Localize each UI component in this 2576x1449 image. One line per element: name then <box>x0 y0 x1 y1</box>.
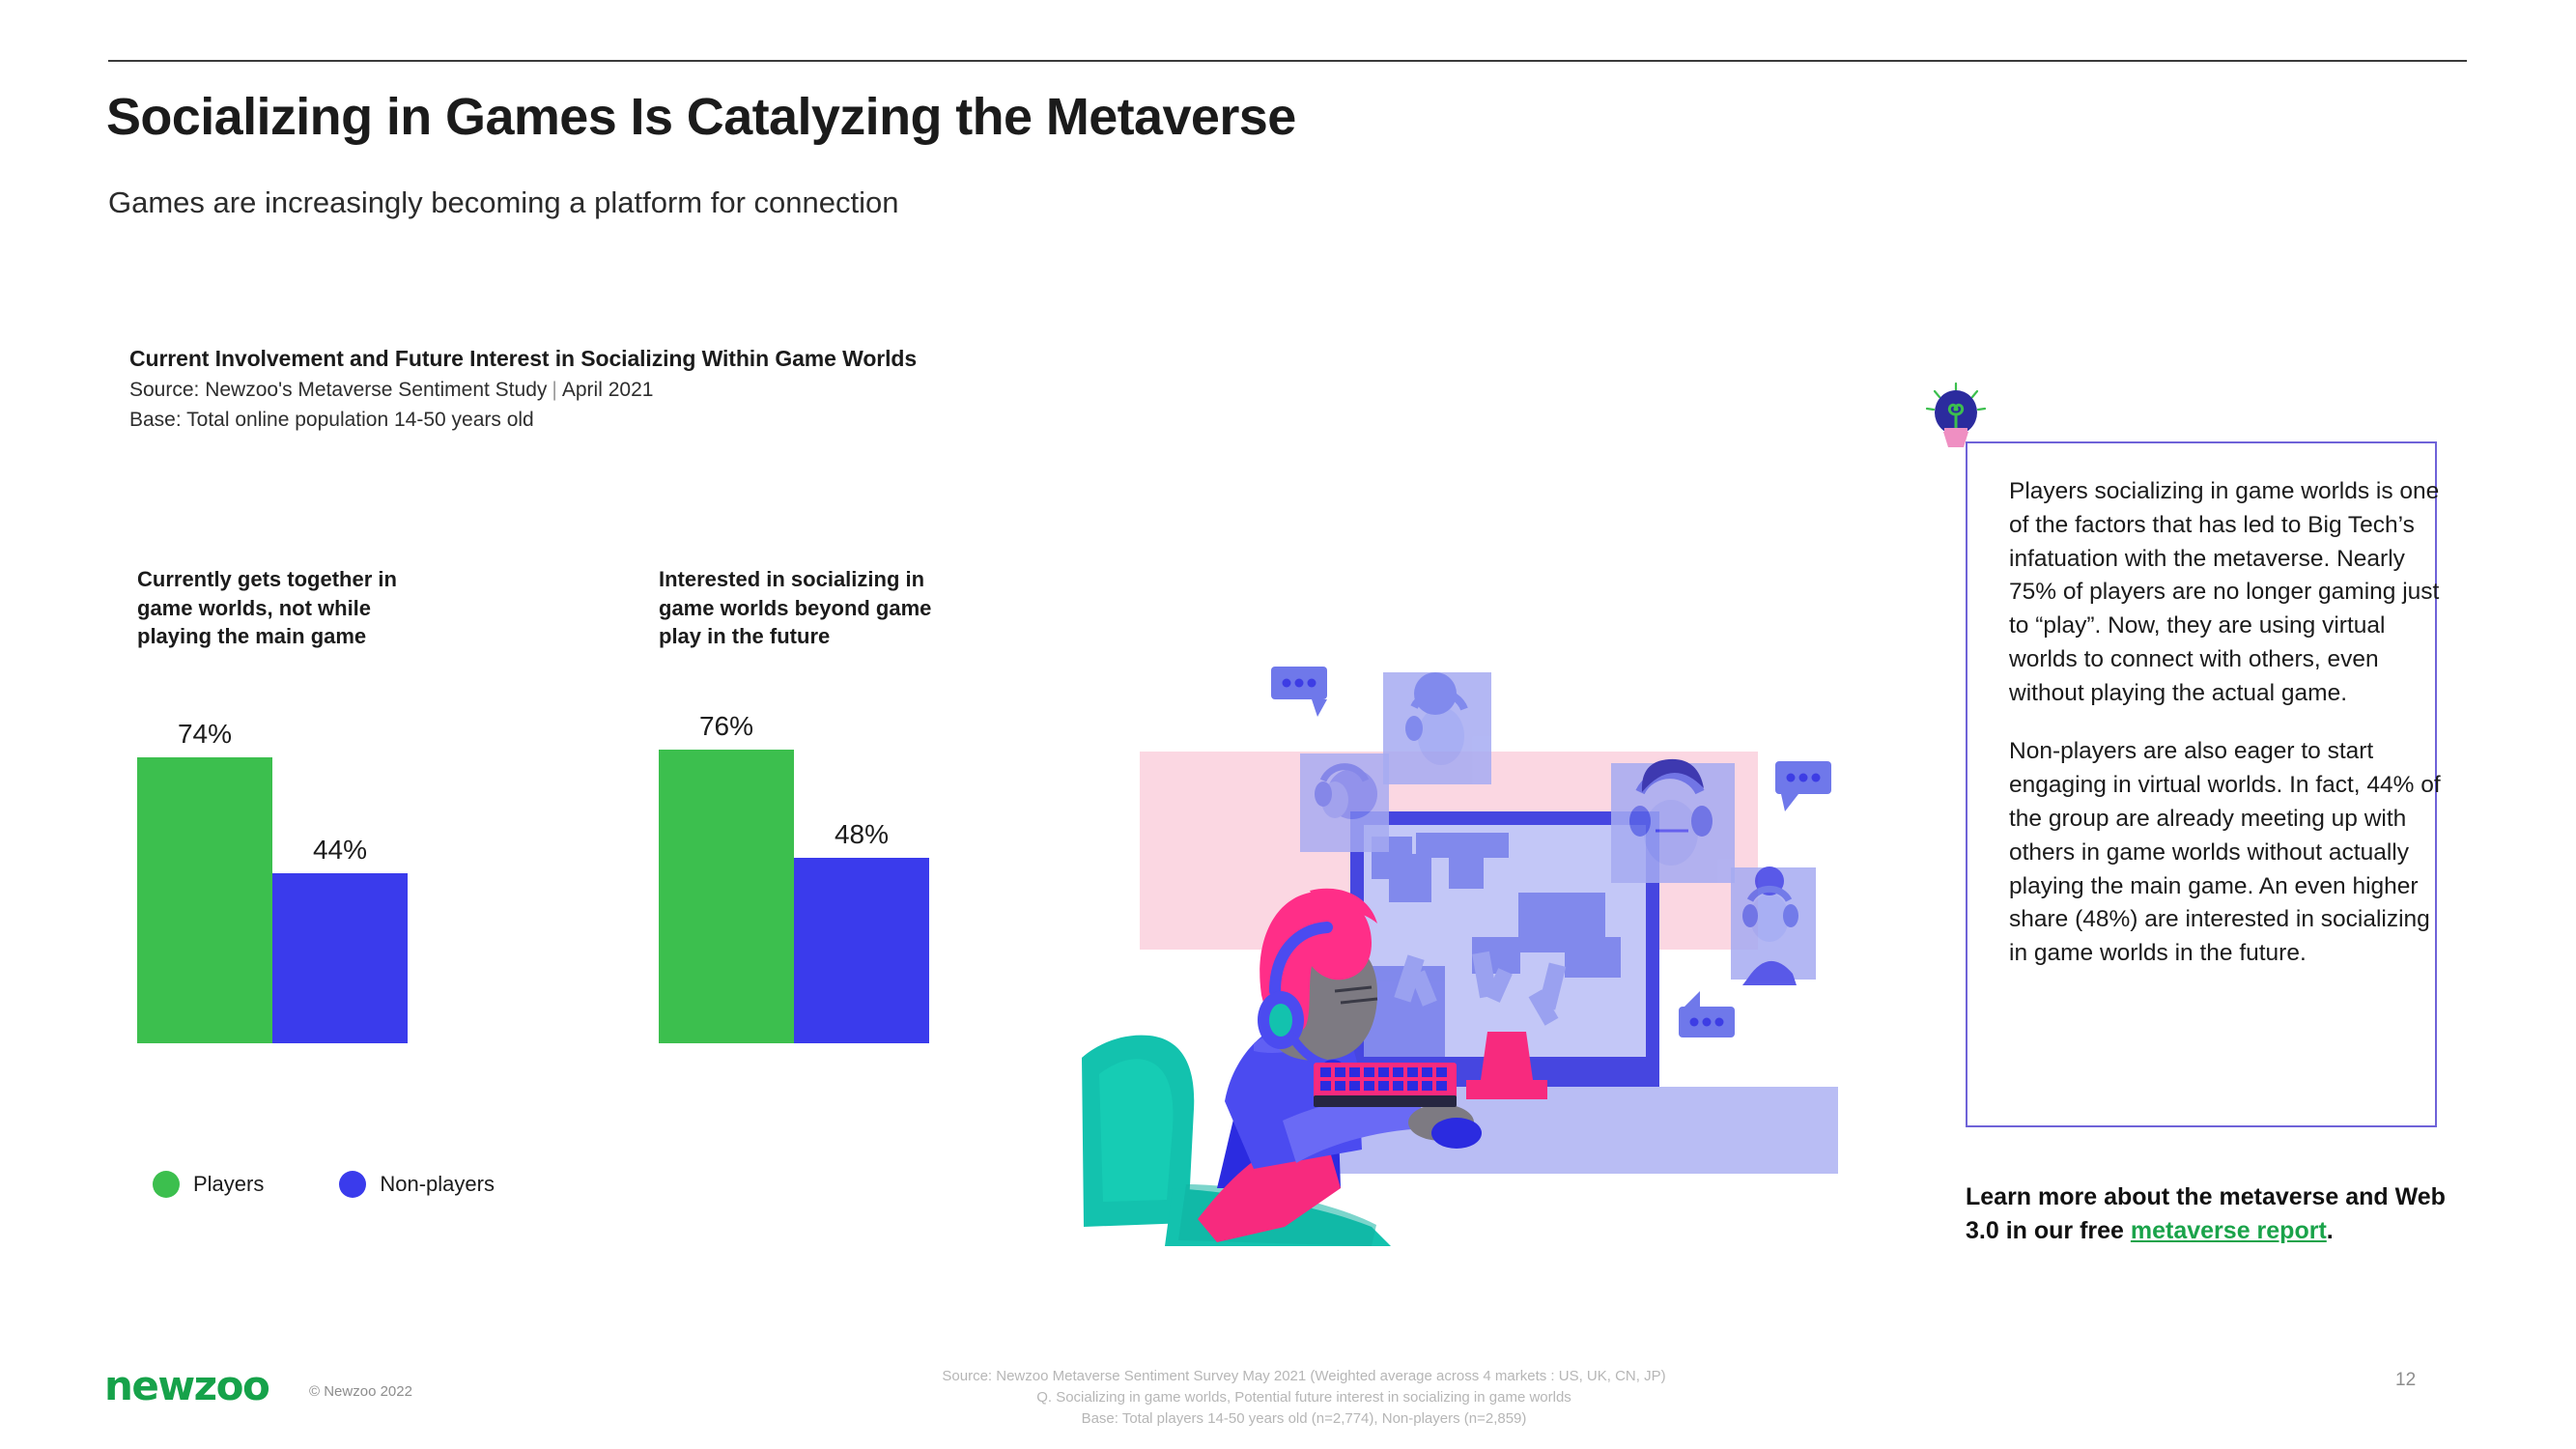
bar-group-future: Interested in socializing in game worlds… <box>659 565 931 651</box>
bar-value-label: 48% <box>794 819 929 850</box>
insight-callout-text: Players socializing in game worlds is on… <box>2009 475 2449 971</box>
page-title: Socializing in Games Is Catalyzing the M… <box>106 87 1296 147</box>
page-number: 12 <box>2395 1370 2416 1391</box>
bar-wrapper-nonplayers: 48% <box>794 858 929 1043</box>
bar-wrapper-players: 76% <box>659 750 794 1043</box>
chart-title: Current Involvement and Future Interest … <box>129 346 917 372</box>
bar-plot-area: 76% 48% <box>659 715 939 1043</box>
footer-source-line: Base: Total players 14-50 years old (n=2… <box>676 1408 1932 1430</box>
chart-header: Current Involvement and Future Interest … <box>129 346 917 432</box>
chart-source-line: Source: Newzoo's Metaverse Sentiment Stu… <box>129 379 917 402</box>
callout-paragraph-2: Non-players are also eager to start enga… <box>2009 735 2449 970</box>
legend-label: Players <box>193 1172 264 1197</box>
legend-item-non-players[interactable]: Non-players <box>339 1171 495 1198</box>
footer-source-line: Q. Socializing in game worlds, Potential… <box>676 1387 1932 1408</box>
legend-label: Non-players <box>380 1172 495 1197</box>
chart-source-date: April 2021 <box>562 379 654 401</box>
bar-wrapper-nonplayers: 44% <box>272 873 408 1043</box>
bar-group-current: Currently gets together in game worlds, … <box>137 565 397 651</box>
gamer-illustration <box>1082 647 1874 1246</box>
bar-plot-area: 74% 44% <box>137 715 417 1043</box>
chart-source-label: Source: Newzoo's Metaverse Sentiment Stu… <box>129 379 547 401</box>
page-subtitle: Games are increasingly becoming a platfo… <box>108 185 898 220</box>
bar-value-label: 44% <box>272 835 408 866</box>
bar-value-label: 74% <box>137 719 272 750</box>
footer-source-note: Source: Newzoo Metaverse Sentiment Surve… <box>676 1366 1932 1429</box>
legend-swatch-icon <box>153 1171 180 1198</box>
bar-non-players[interactable] <box>794 858 929 1043</box>
learn-more-cta: Learn more about the metaverse and Web 3… <box>1966 1180 2449 1247</box>
bar-group-label: Interested in socializing in game worlds… <box>659 565 931 651</box>
copyright-text: © Newzoo 2022 <box>309 1383 412 1400</box>
footer-source-line: Source: Newzoo Metaverse Sentiment Surve… <box>676 1366 1932 1387</box>
chart-legend: Players Non-players <box>153 1171 495 1198</box>
bar-non-players[interactable] <box>272 873 408 1043</box>
cta-text-after: . <box>2327 1217 2334 1244</box>
metaverse-report-link[interactable]: metaverse report <box>2131 1217 2327 1244</box>
gamer-illustration-svg <box>1082 647 1874 1246</box>
newzoo-logo: newzoo <box>104 1362 269 1409</box>
source-separator: | <box>547 379 561 401</box>
legend-swatch-icon <box>339 1171 366 1198</box>
bar-group-label: Currently gets together in game worlds, … <box>137 565 397 651</box>
bar-value-label: 76% <box>659 711 794 742</box>
bar-wrapper-players: 74% <box>137 757 272 1043</box>
bar-players[interactable] <box>137 757 272 1043</box>
bar-players[interactable] <box>659 750 794 1043</box>
callout-paragraph-1: Players socializing in game worlds is on… <box>2009 475 2449 710</box>
chart-base-line: Base: Total online population 14-50 year… <box>129 409 917 432</box>
header-divider <box>108 60 2467 62</box>
legend-item-players[interactable]: Players <box>153 1171 264 1198</box>
